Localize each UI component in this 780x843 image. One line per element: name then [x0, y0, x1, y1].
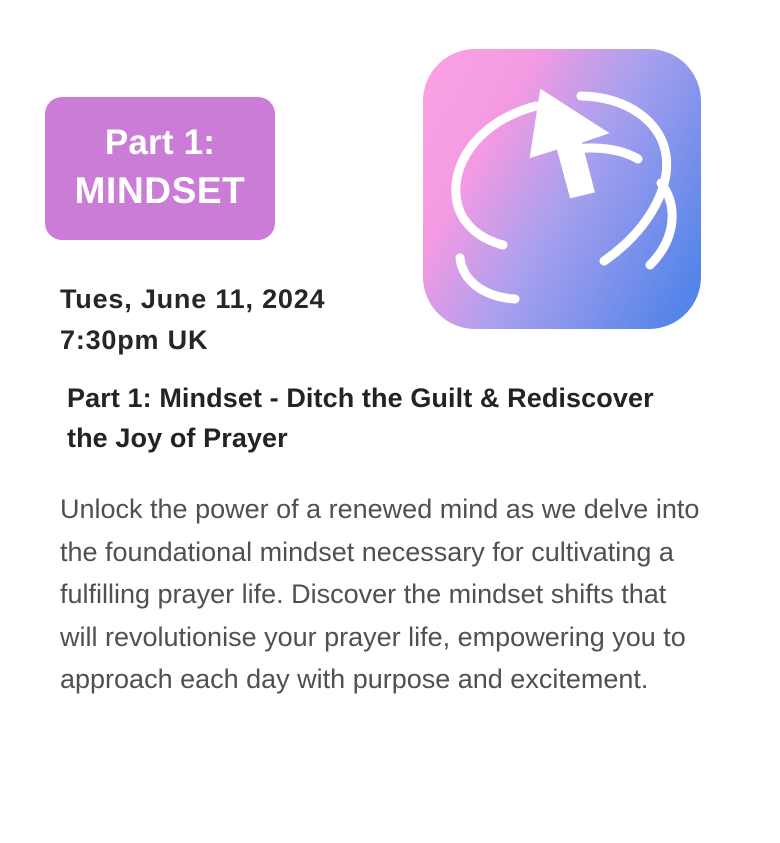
- part-badge-line-2: MINDSET: [75, 167, 246, 215]
- schedule-time: 7:30pm UK: [60, 320, 480, 361]
- part-badge-line-1: Part 1:: [105, 119, 215, 167]
- session-card: Part 1: MINDSET: [0, 0, 780, 843]
- schedule-date: Tues, June 11, 2024: [60, 279, 480, 320]
- schedule-block: Tues, June 11, 2024 7:30pm UK: [60, 279, 480, 361]
- part-badge: Part 1: MINDSET: [45, 97, 275, 240]
- session-description: Unlock the power of a renewed mind as we…: [60, 488, 700, 701]
- session-title: Part 1: Mindset - Ditch the Guilt & Redi…: [67, 378, 667, 458]
